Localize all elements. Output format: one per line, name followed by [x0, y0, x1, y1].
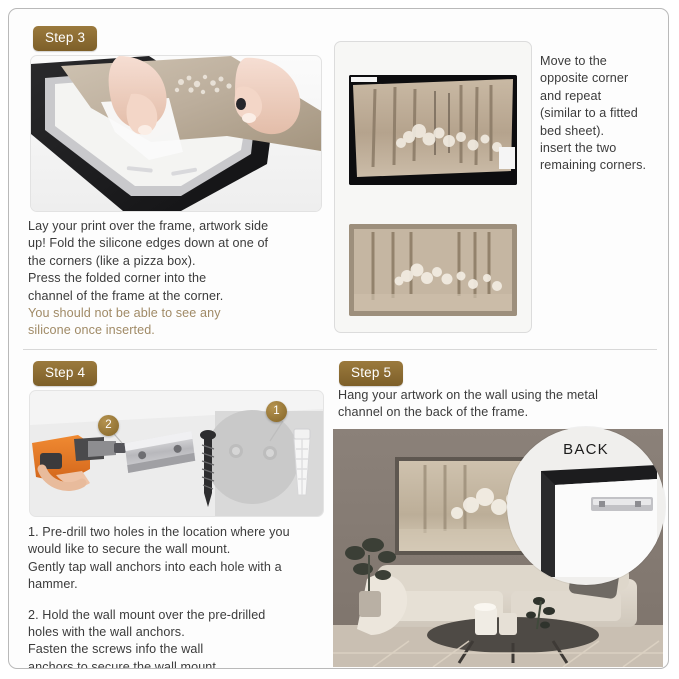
step-3-body: Lay your print over the frame, artwork s… [28, 218, 328, 305]
step-4-illustration: 1 2 [29, 390, 324, 517]
frame-back-channel-illustration [507, 427, 665, 585]
step-4-instructions: 1. Pre-drill two holes in the location w… [28, 524, 338, 669]
loose-artwork-illustration [349, 75, 517, 185]
artwork-loose-in-frame [349, 75, 517, 185]
step-5-back-callout: BACK [507, 427, 665, 585]
step-3-reference-panel [334, 41, 532, 333]
step-5-badge: Step 5 [339, 361, 403, 386]
marker-drill-mount: 2 [98, 415, 119, 436]
step-4-body-2: 2. Hold the wall mount over the pre-dril… [28, 607, 338, 669]
step-5-body: Hang your artwork on the wall using the … [338, 387, 658, 422]
instruction-sheet: Step 3 [8, 8, 669, 669]
artwork-seated-in-frame [349, 224, 517, 316]
step-3-side-note: Move to the opposite corner and repeat (… [540, 53, 669, 175]
step-3-instructions: Lay your print over the frame, artwork s… [28, 218, 328, 340]
step-4-body-1: 1. Pre-drill two holes in the location w… [28, 524, 338, 594]
marker-wall-anchor: 1 [266, 401, 287, 422]
step-4-badge: Step 4 [33, 361, 97, 386]
step-3-body-highlight: You should not be able to see any silico… [28, 305, 328, 340]
section-divider [23, 349, 657, 350]
seated-artwork-illustration [349, 224, 517, 316]
hands-folding-frame-illustration [31, 56, 321, 211]
step-3-photo [30, 55, 322, 212]
step-3-badge: Step 3 [33, 26, 97, 51]
